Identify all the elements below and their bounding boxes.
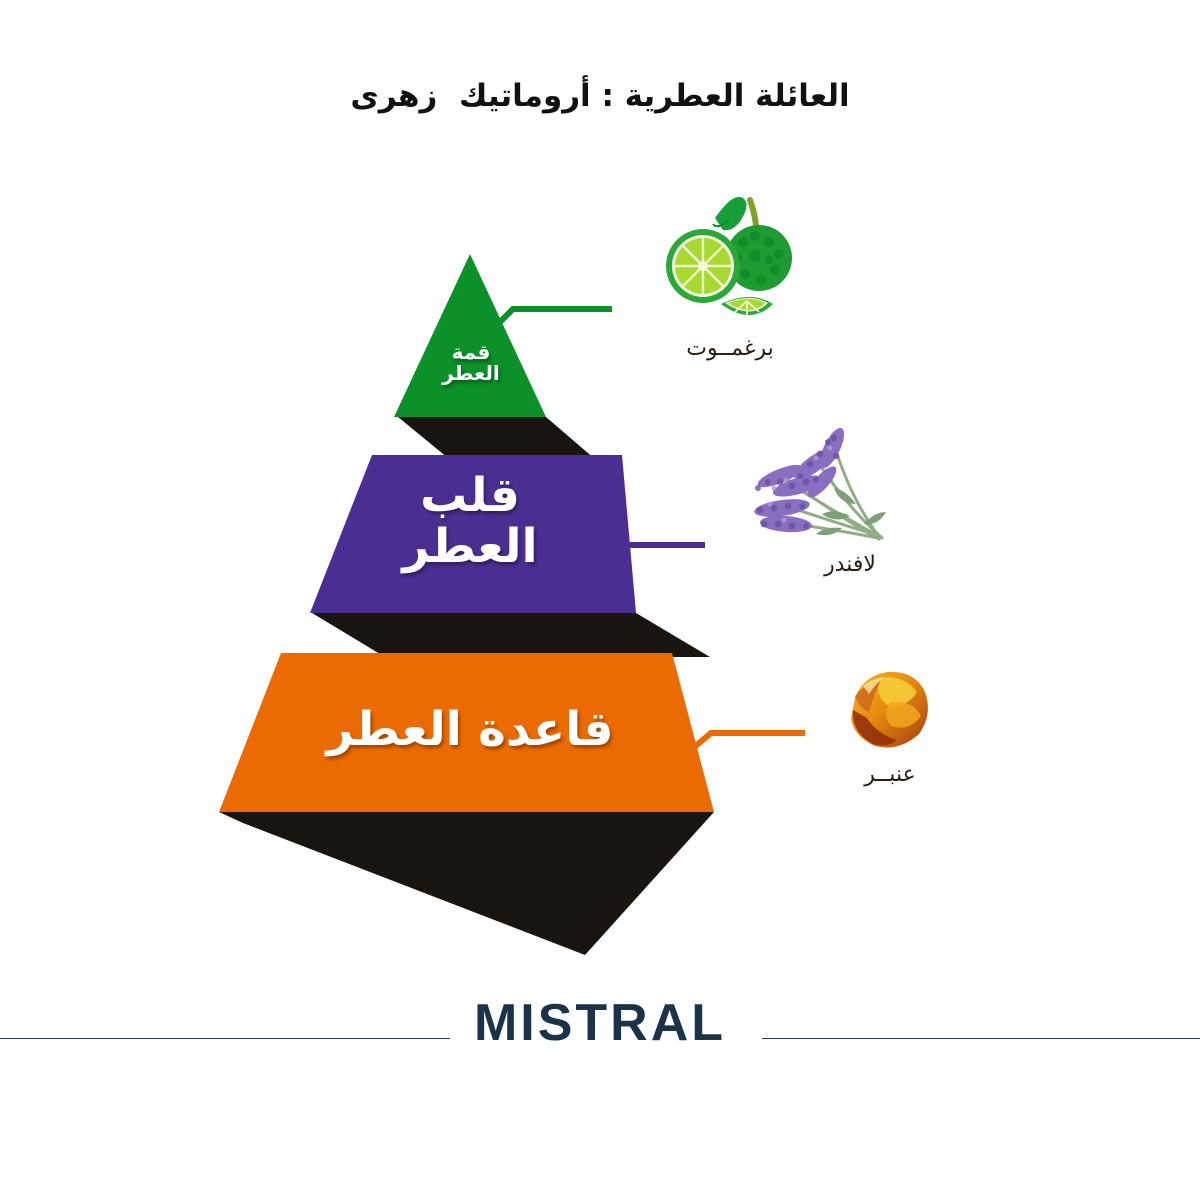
fragrance-pyramid-infographic: العائلة العطرية : أروماتيك زهرى قمة العط… — [0, 0, 1200, 1200]
footer-rule-right — [762, 1038, 1200, 1039]
pyramid-layer-middle[interactable] — [310, 455, 636, 613]
shadow-middle — [312, 613, 710, 657]
bergamot-icon — [655, 186, 805, 326]
shadow-base — [219, 812, 714, 955]
pyramid-layer-top[interactable] — [394, 254, 546, 417]
lavender-icon — [722, 420, 900, 548]
pyramid-layer-base[interactable] — [219, 653, 714, 812]
brand-logo: MISTRAL — [0, 993, 1200, 1053]
note-label-bergamot: برغمــوت — [620, 336, 840, 361]
note-label-lavender: لافندر — [740, 552, 960, 577]
amber-stone-icon — [833, 662, 939, 758]
note-label-amber: عنبــر — [800, 762, 980, 787]
footer-rule-left — [0, 1038, 450, 1039]
